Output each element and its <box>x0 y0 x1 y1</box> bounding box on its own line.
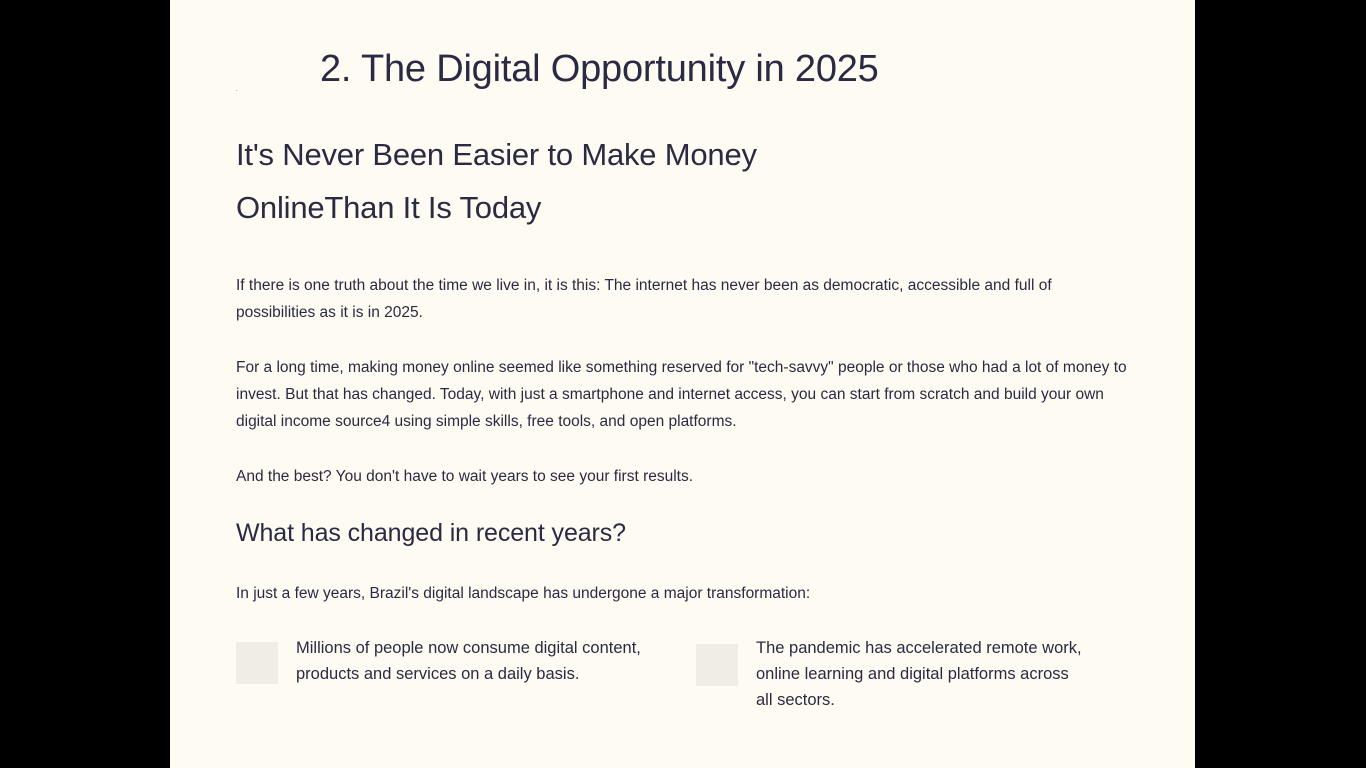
screen-viewport: . 2. The Digital Opportunity in 2025 It'… <box>0 0 1366 768</box>
document-slide: . 2. The Digital Opportunity in 2025 It'… <box>170 0 1195 768</box>
intro-line: In just a few years, Brazil's digital la… <box>236 550 1131 607</box>
list-item: Millions of people now consume digital c… <box>236 635 696 713</box>
document-body: It's Never Been Easier to Make Money Onl… <box>236 128 1136 713</box>
paragraph-3: And the best? You don't have to wait yea… <box>236 435 1131 490</box>
title-marker-glyph: . <box>236 86 238 94</box>
list-item-label: The pandemic has accelerated remote work… <box>738 635 1086 713</box>
paragraph-2: For a long time, making money online see… <box>236 326 1131 435</box>
sub-heading: What has changed in recent years? <box>236 490 1136 550</box>
list-item: The pandemic has accelerated remote work… <box>696 635 1136 713</box>
section-heading: It's Never Been Easier to Make Money Onl… <box>236 128 916 234</box>
slide-header: . 2. The Digital Opportunity in 2025 <box>170 0 1195 120</box>
placeholder-square-icon <box>236 642 278 684</box>
page-title: 2. The Digital Opportunity in 2025 <box>320 44 879 94</box>
paragraph-1: If there is one truth about the time we … <box>236 234 1131 326</box>
placeholder-square-icon <box>696 644 738 686</box>
bullet-cards-row: Millions of people now consume digital c… <box>236 607 1136 713</box>
list-item-label: Millions of people now consume digital c… <box>278 635 688 687</box>
